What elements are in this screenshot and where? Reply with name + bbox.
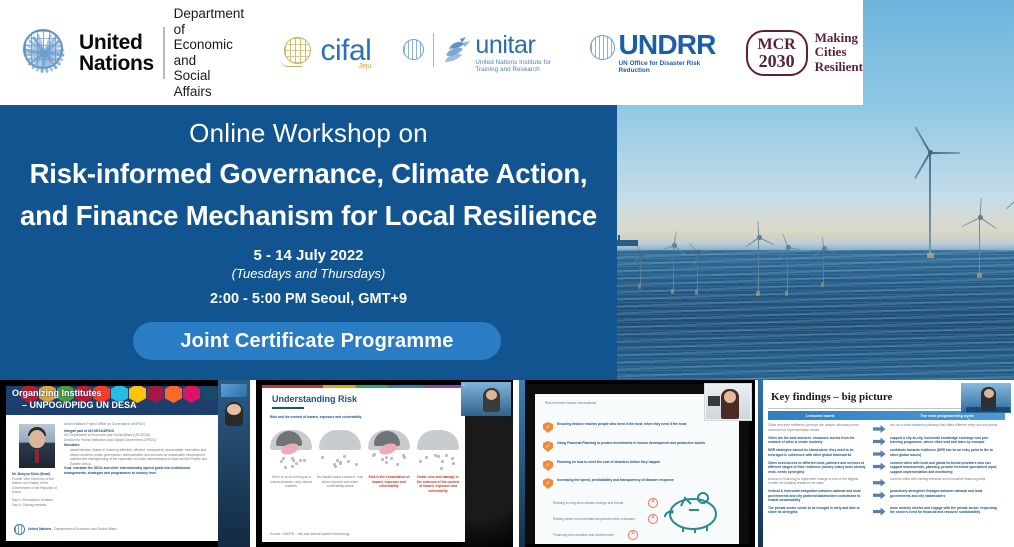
finding-left: The private sector needs to be brought i… xyxy=(768,506,868,515)
thumb-financing-bullets[interactable]: Risk-informed finance mechanisms Ensurin… xyxy=(519,380,755,547)
desa-line1: Department of xyxy=(174,6,245,37)
risk-illustration-icon xyxy=(366,429,412,473)
right-arrow-cell xyxy=(871,436,887,446)
right-arrow-icon xyxy=(873,479,886,487)
un-wordmark: United Nations xyxy=(72,32,154,74)
turbine-blade xyxy=(757,221,759,238)
slide-body: United Nations Project Office on Governa… xyxy=(64,422,212,476)
banner-title-line2: and Finance Mechanism for Local Resilien… xyxy=(0,199,617,233)
risk-card: Death, loss and damage is the outcome of… xyxy=(415,429,461,493)
table-row: DRR strategies cannot be stand-alone, th… xyxy=(768,448,1005,458)
excluded-item: Financing risk reduction and development… xyxy=(553,530,638,540)
slide-title: Key findings – big picture xyxy=(771,391,892,403)
finding-left: Vertical & horizontal integration betwee… xyxy=(768,489,868,503)
checklist-text: Ensuring finance reaches people who need… xyxy=(557,422,717,427)
banner-time: 2:00 - 5:00 PM Seoul, GMT+9 xyxy=(0,291,617,307)
right-arrow-cell xyxy=(871,506,887,516)
un-emblem-icon xyxy=(14,24,72,82)
body-line: Division for Public Institutions and Dig… xyxy=(64,438,212,443)
risk-card: Risk is the combination of hazard, expos… xyxy=(366,429,412,493)
mcr-line1: Making xyxy=(815,31,863,46)
table-row: Vertical & horizontal integration betwee… xyxy=(768,489,1005,503)
cifal-wordmark: cifal Jeju xyxy=(320,36,371,70)
table-row: Access to financing to implement change … xyxy=(768,477,1005,487)
wind-turbine-icon xyxy=(685,250,711,292)
shield-check-icon xyxy=(543,441,553,452)
slide-header: Organizing Institutes – UNPOG/DPIDG UN D… xyxy=(6,386,218,415)
finding-right: support a city-to-city, horizontal knowl… xyxy=(890,436,1002,445)
speaker-role: Former Vice-Governor of the Interior and… xyxy=(12,477,60,495)
finding-left: Cities and their resilience journeys are… xyxy=(768,423,868,432)
card-caption: No hazard alone causes it, only when exp… xyxy=(317,475,363,489)
turbine-blade xyxy=(759,237,775,246)
x-circle-icon: ✕ xyxy=(648,498,658,508)
title-underline xyxy=(272,407,304,409)
piggy-bank-icon xyxy=(659,484,725,534)
right-arrow-icon xyxy=(873,425,886,433)
right-arrow-cell xyxy=(871,461,887,471)
turbine-blade xyxy=(980,217,997,229)
wind-turbine-icon xyxy=(900,150,960,255)
un-emblem-small-icon xyxy=(588,33,618,63)
body-line: address the strengthening of the capacit… xyxy=(64,457,212,466)
checklist-text: Planning on how to meet the cost of disa… xyxy=(557,460,707,465)
finding-left: Cities are the best teachers: showcase s… xyxy=(768,436,868,445)
card-caption: Death, loss and damage is the outcome of… xyxy=(415,475,461,493)
debris xyxy=(419,453,457,471)
body-line: assist Member States in fostering effect… xyxy=(64,448,212,457)
debris xyxy=(321,453,359,471)
wind-turbine-icon xyxy=(773,245,803,293)
slide-subtitle: Risk and the context of hazard, exposure… xyxy=(270,415,420,420)
shared-screen-preview xyxy=(221,384,247,397)
mcr-badge-line2: 2030 xyxy=(759,53,795,70)
desa-wordmark: Department of Economic and Social Affair… xyxy=(174,6,245,99)
debris xyxy=(272,453,310,471)
right-arrow-cell xyxy=(871,448,887,458)
finding-right: set out a clear resilience pathway that … xyxy=(890,423,1002,428)
service-vessel-mast xyxy=(618,235,620,241)
finding-right: more actively involve and engage with th… xyxy=(890,506,1002,515)
turbine-blade xyxy=(930,152,960,154)
banner-days: (Tuesdays and Thursdays) xyxy=(0,266,617,281)
table-row: Cities and their resilience journeys are… xyxy=(768,423,1005,433)
mcr-badge-line1: MCR xyxy=(758,36,796,53)
risk-concept-cards: There is no such thing as a natural disa… xyxy=(268,429,460,493)
slide-surface: Understanding Risk Risk and the context … xyxy=(262,385,465,542)
session-thumbnail-strip: Organizing Institutes – UNPOG/DPIDG UN D… xyxy=(0,380,1014,547)
undrr-word: UNDRR xyxy=(619,31,716,59)
webcam-tile: ● xyxy=(461,382,511,416)
wind-turbine-icon xyxy=(630,252,652,286)
speaker-day4: Day 4: Closing remarks xyxy=(12,503,60,508)
turbine-blade xyxy=(824,248,836,254)
wind-turbine-icon xyxy=(812,246,836,284)
slide-heading: Risk-informed finance mechanisms xyxy=(545,401,625,406)
undrr-sub: UN Office for Disaster Risk Reduction xyxy=(619,60,716,74)
finding-right: contribute towards resilience (DRR can b… xyxy=(890,448,1002,457)
excluded-item: Relating to long-term climate change and… xyxy=(553,498,658,508)
logo-bar: United Nations Department of Economic an… xyxy=(0,0,863,105)
turbine-blade xyxy=(962,217,980,227)
slide-accent-bar xyxy=(262,385,465,388)
logo-un-desa: United Nations Department of Economic an… xyxy=(14,6,244,99)
right-arrow-cell xyxy=(871,489,887,499)
screenshot-root: United Nations Department of Economic an… xyxy=(0,0,1014,547)
unitar-divider xyxy=(433,33,434,67)
slide-footer-logos: United Nations Department of Economic an… xyxy=(14,524,117,535)
risk-card: There is no such thing as a natural disa… xyxy=(268,429,314,493)
column-header-left: Lessons learnt xyxy=(806,413,834,418)
unitar-sub: United Nations Institute for Training an… xyxy=(475,59,555,73)
checklist-item: Ensuring finance reaches people who need… xyxy=(543,422,717,433)
right-arrow-icon xyxy=(873,463,886,471)
mcr-line3: Resilient xyxy=(815,60,863,75)
footer-logo-label: United Nations xyxy=(28,527,51,532)
mcr-line2: Cities xyxy=(815,45,863,60)
footer-logo-label: Department of Economic and Social Affair… xyxy=(54,527,117,532)
risk-card: No hazard alone causes it, only when exp… xyxy=(317,429,363,493)
shield-check-icon xyxy=(543,422,553,433)
slide-title-line2: – UNPOG/DPIDG UN DESA xyxy=(22,400,137,410)
logo-unitar: unitar United Nations Institute for Trai… xyxy=(401,33,555,73)
slide-title: Understanding Risk xyxy=(272,394,357,404)
table-row: Cities need access to different tools, p… xyxy=(768,461,1005,475)
finding-left: Access to financing to implement change … xyxy=(768,477,868,486)
wind-turbine-icon xyxy=(660,243,688,291)
logo-divider xyxy=(163,27,165,79)
table-row: Cities are the best teachers: showcase s… xyxy=(768,436,1005,446)
x-circle-icon: ✕ xyxy=(648,514,658,524)
turbine-blade xyxy=(674,245,685,255)
thumb-understanding-risk[interactable]: Understanding Risk Risk and the context … xyxy=(256,380,513,547)
slide-source-note: Source: UNDRR – risk and natural hazard … xyxy=(270,532,420,537)
un-wordmark-line2: Nations xyxy=(72,53,154,74)
body-line: United Nations Project Office on Governa… xyxy=(64,422,212,427)
excluded-text: Financing risk reduction and development xyxy=(553,533,623,538)
checklist-text: Increasing the speed, predictability and… xyxy=(557,478,717,483)
un-emblem-small-icon xyxy=(14,524,25,535)
unitar-word: unitar xyxy=(475,33,555,58)
speaker-portrait xyxy=(19,424,55,468)
findings-table: Cities and their resilience journeys are… xyxy=(768,423,1005,518)
un-emblem-small-icon xyxy=(401,37,427,63)
checklist-text: Using Financial Planning to protect inve… xyxy=(557,441,727,446)
turbine-blade xyxy=(1006,192,1014,209)
excluded-item: Raising funds from international partner… xyxy=(553,514,658,524)
right-arrow-icon xyxy=(873,438,886,446)
banner-date: 5 - 14 July 2022 xyxy=(0,247,617,264)
turbine-blade xyxy=(914,126,930,153)
finding-left: Cities need access to different tools, p… xyxy=(768,461,868,475)
wind-turbine-icon xyxy=(960,215,1000,275)
slide-title-line1: Organizing Institutes xyxy=(12,388,102,398)
checklist-item: Using Financial Planning to protect inve… xyxy=(543,441,727,452)
right-arrow-cell xyxy=(871,423,887,433)
un-wordmark-line1: United xyxy=(72,32,154,53)
dove-icon xyxy=(440,35,472,65)
right-arrow-icon xyxy=(873,508,886,516)
webcam-tile xyxy=(218,380,250,547)
thumb-key-findings[interactable]: Key findings – big picture Lessons learn… xyxy=(758,380,1014,547)
cifal-globe-icon xyxy=(280,36,316,69)
cifal-word: cifal xyxy=(320,36,371,66)
body-line: Goal: translate the SDGs and other inter… xyxy=(64,466,212,475)
exposure-illustration-icon xyxy=(317,429,363,473)
card-caption: Risk is the combination of hazard, expos… xyxy=(366,475,412,489)
damage-illustration-icon xyxy=(415,429,461,473)
mcr-wordmark: Making Cities Resilient xyxy=(815,31,863,75)
finding-right: proactively strengthen linkages between … xyxy=(890,489,1002,498)
webcam-tile xyxy=(704,383,752,421)
thumb-organizing-institutes[interactable]: Organizing Institutes – UNPOG/DPIDG UN D… xyxy=(0,380,250,547)
slide-surface: Organizing Institutes – UNPOG/DPIDG UN D… xyxy=(6,386,218,541)
wind-turbine-icon xyxy=(742,235,776,293)
banner-title-panel: Online Workshop on Risk-informed Governa… xyxy=(0,105,617,353)
webcam-name-label: ● xyxy=(966,407,1010,412)
finding-left: DRR strategies cannot be stand-alone, th… xyxy=(768,448,868,457)
monitor-icon xyxy=(708,396,720,406)
webcam-label: ● xyxy=(463,383,465,387)
mcr-badge: MCR 2030 xyxy=(746,30,808,76)
hazard-illustration-icon xyxy=(268,429,314,473)
speaker-caption: Mr. Bokyun Shim (Head) Former Vice-Gover… xyxy=(12,472,60,507)
finding-right: connect cities with local and global tec… xyxy=(890,461,1002,475)
banner-title-line1: Risk-informed Governance, Climate Action… xyxy=(0,157,617,191)
x-circle-icon: ✕ xyxy=(628,530,638,540)
shield-check-icon xyxy=(543,478,553,489)
speaker-day1: Day 1: Introductory remarks xyxy=(12,498,60,503)
right-arrow-cell xyxy=(871,477,887,487)
checklist-item: Planning on how to meet the cost of disa… xyxy=(543,460,707,471)
table-row: The private sector needs to be brought i… xyxy=(768,506,1005,516)
shield-check-icon xyxy=(543,460,553,471)
right-arrow-icon xyxy=(873,491,886,499)
logo-mcr2030: MCR 2030 Making Cities Resilient xyxy=(746,30,863,76)
card-caption: There is no such thing as a natural disa… xyxy=(268,475,314,489)
desa-line3: Social Affairs xyxy=(174,68,245,99)
logo-cifal-jeju: cifal Jeju xyxy=(280,36,371,70)
excluded-text: Relating to long-term climate change and… xyxy=(553,501,643,506)
wind-turbine-icon xyxy=(1000,190,1014,268)
right-arrow-icon xyxy=(873,450,886,458)
desa-line2: Economic and xyxy=(174,37,245,68)
logo-undrr: UNDRR UN Office for Disaster Risk Reduct… xyxy=(588,31,716,74)
excluded-text: Raising funds from international partner… xyxy=(553,517,643,522)
finding-right: connect cities with funding streams and … xyxy=(890,477,1002,482)
joint-certificate-programme-badge[interactable]: Joint Certificate Programme xyxy=(133,322,501,360)
debris xyxy=(370,453,408,471)
banner-kicker: Online Workshop on xyxy=(0,118,617,149)
